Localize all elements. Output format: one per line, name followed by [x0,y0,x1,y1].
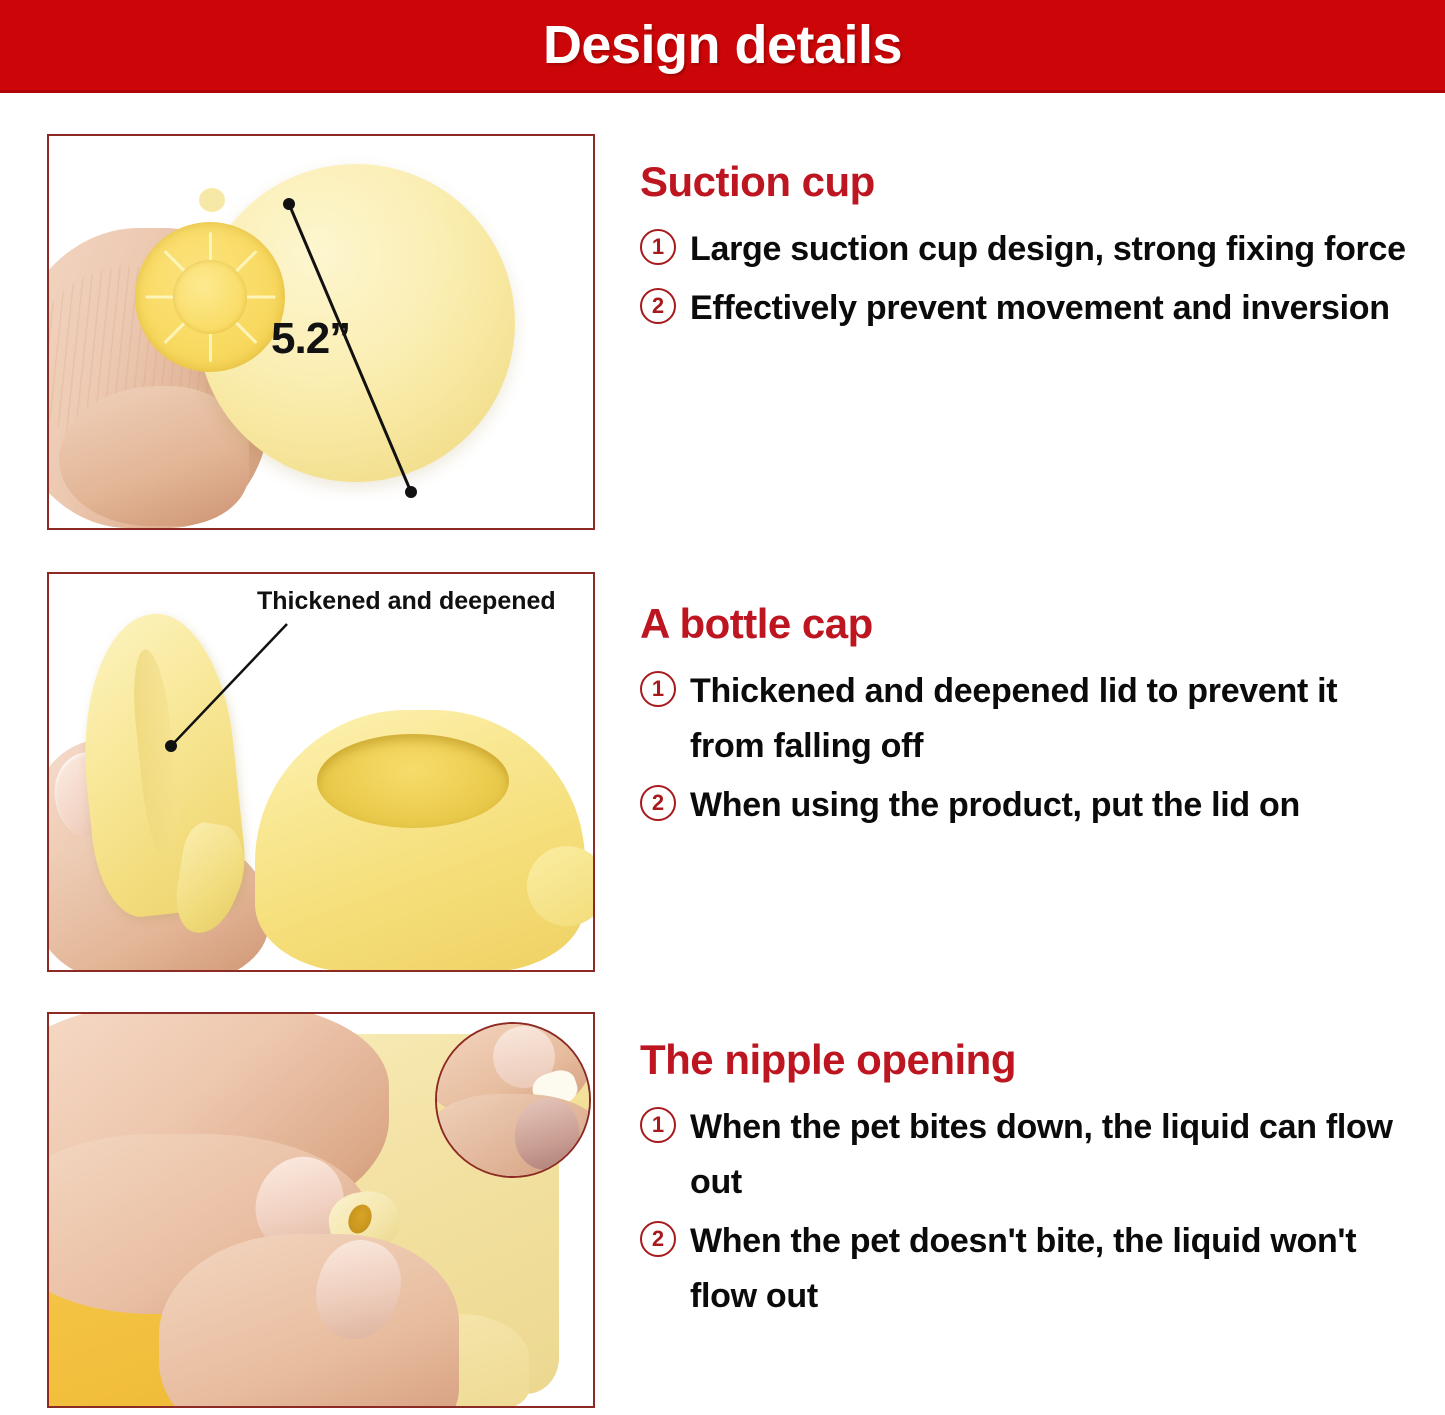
bullet-text: Large suction cup design, strong fixing … [690,222,1410,277]
hand-thumb [159,1234,459,1408]
bullet-number-icon: 1 [640,671,676,707]
nipple-opening-text-block: The nipple opening 1 When the pet bites … [640,1036,1410,1328]
dimension-label: 5.2” [271,314,350,364]
section-heading-suction-cup: Suction cup [640,158,1410,206]
bottle-cap-text-block: A bottle cap 1 Thickened and deepened li… [640,600,1410,837]
bullet-number-icon: 1 [640,1107,676,1143]
section-heading-bottle-cap: A bottle cap [640,600,1410,648]
bullet-item: 2 Effectively prevent movement and inver… [640,281,1410,336]
bottle-cap-photo: Thickened and deepened [49,574,593,970]
bullet-item: 2 When the pet doesn't bite, the liquid … [640,1214,1410,1324]
bullet-item: 1 When the pet bites down, the liquid ca… [640,1100,1410,1210]
bullet-number-icon: 2 [640,785,676,821]
suction-cup-photo: 5.2” [49,136,593,528]
bullet-text: Thickened and deepened lid to prevent it… [690,664,1410,774]
nipple-opening-photo-panel [47,1012,595,1408]
callout-leader-line [49,574,593,970]
suction-cup-nub [199,188,225,212]
bullet-item: 2 When using the product, put the lid on [640,778,1410,833]
callout-label: Thickened and deepened [257,587,556,616]
bullet-item: 1 Large suction cup design, strong fixin… [640,222,1410,277]
bullet-number-icon: 2 [640,1221,676,1257]
header-banner: Design details [0,0,1445,93]
bullet-number-icon: 2 [640,288,676,324]
bullet-item: 1 Thickened and deepened lid to prevent … [640,664,1410,774]
suction-cup-inner-ring [173,260,247,334]
zoom-inset-circle [435,1022,591,1178]
suction-cup-text-block: Suction cup 1 Large suction cup design, … [640,158,1410,340]
bullet-text: When the pet bites down, the liquid can … [690,1100,1410,1210]
bullet-text: When the pet doesn't bite, the liquid wo… [690,1214,1410,1324]
section-heading-nipple-opening: The nipple opening [640,1036,1410,1084]
nipple-opening-photo [49,1014,593,1406]
page-title: Design details [0,0,1445,90]
suction-cup-photo-panel: 5.2” [47,134,595,530]
bullet-text: When using the product, put the lid on [690,778,1410,833]
bullet-number-icon: 1 [640,229,676,265]
bottle-cap-photo-panel: Thickened and deepened [47,572,595,972]
bullet-text: Effectively prevent movement and inversi… [690,281,1410,336]
